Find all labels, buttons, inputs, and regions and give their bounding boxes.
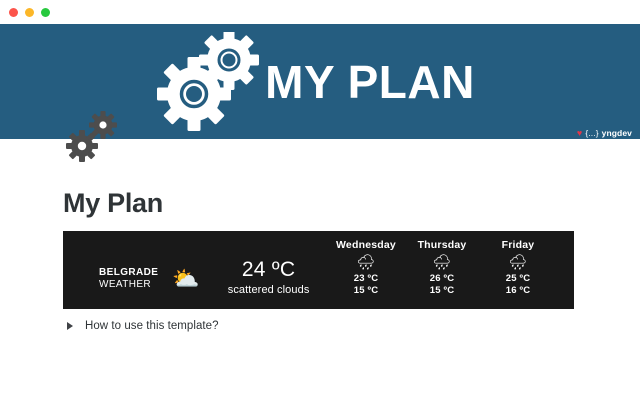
weather-forecast: Wednesday 🌧 23 ºC 15 ºC Thursday 🌧 26 ºC…	[309, 231, 574, 309]
forecast-day: Friday 🌧 25 ºC 16 ºC	[480, 239, 556, 309]
credit-line[interactable]: ♥ {...}yngdev	[577, 128, 632, 138]
weather-city: BELGRADE	[99, 267, 158, 279]
maximize-window-button[interactable]	[41, 8, 50, 17]
forecast-day-name: Wednesday	[328, 239, 404, 252]
how-to-use-toggle[interactable]: How to use this template?	[63, 320, 219, 332]
minimize-window-button[interactable]	[25, 8, 34, 17]
weather-city-subtitle: WEATHER	[99, 279, 158, 291]
page-body: My Plan BELGRADE WEATHER ⛅ 24 ºC scatter…	[0, 139, 640, 400]
forecast-low: 15 ºC	[404, 285, 480, 297]
how-to-use-label: How to use this template?	[85, 320, 219, 332]
rain-cloud-icon: 🌧	[404, 255, 480, 272]
hero-title: MY PLAN	[265, 59, 475, 105]
rain-cloud-icon: 🌧	[480, 255, 556, 272]
credit-name: yngdev	[602, 128, 632, 138]
forecast-low: 16 ºC	[480, 285, 556, 297]
credit-braces: {...}	[585, 128, 598, 138]
weather-current-description: scattered clouds	[228, 284, 310, 296]
weather-current: BELGRADE WEATHER ⛅ 24 ºC scattered cloud…	[63, 231, 309, 309]
triangle-right-icon[interactable]	[67, 322, 73, 330]
forecast-low: 15 ºC	[328, 285, 404, 297]
heart-icon: ♥	[577, 129, 582, 138]
small-gears-icon	[64, 108, 126, 164]
hero-logo: MY PLAN	[157, 32, 475, 132]
forecast-high: 25 ºC	[480, 273, 556, 285]
page-title: My Plan	[63, 190, 163, 217]
forecast-high: 23 ºC	[328, 273, 404, 285]
weather-now: 24 ºC scattered clouds	[214, 244, 310, 295]
app-window: MY PLAN	[0, 0, 640, 400]
close-window-button[interactable]	[9, 8, 18, 17]
forecast-high: 26 ºC	[404, 273, 480, 285]
forecast-day: Thursday 🌧 26 ºC 15 ºC	[404, 239, 480, 309]
weather-widget: BELGRADE WEATHER ⛅ 24 ºC scattered cloud…	[63, 231, 574, 309]
forecast-day-name: Friday	[480, 239, 556, 252]
forecast-day: Wednesday 🌧 23 ºC 15 ºC	[328, 239, 404, 309]
forecast-day-name: Thursday	[404, 239, 480, 252]
weather-location: BELGRADE WEATHER	[99, 249, 158, 291]
weather-current-temp: 24 ºC	[228, 258, 310, 281]
window-titlebar	[0, 0, 640, 24]
gears-icon	[157, 32, 267, 132]
rain-cloud-icon: 🌧	[328, 255, 404, 272]
sun-behind-cloud-icon: ⛅	[172, 250, 199, 290]
